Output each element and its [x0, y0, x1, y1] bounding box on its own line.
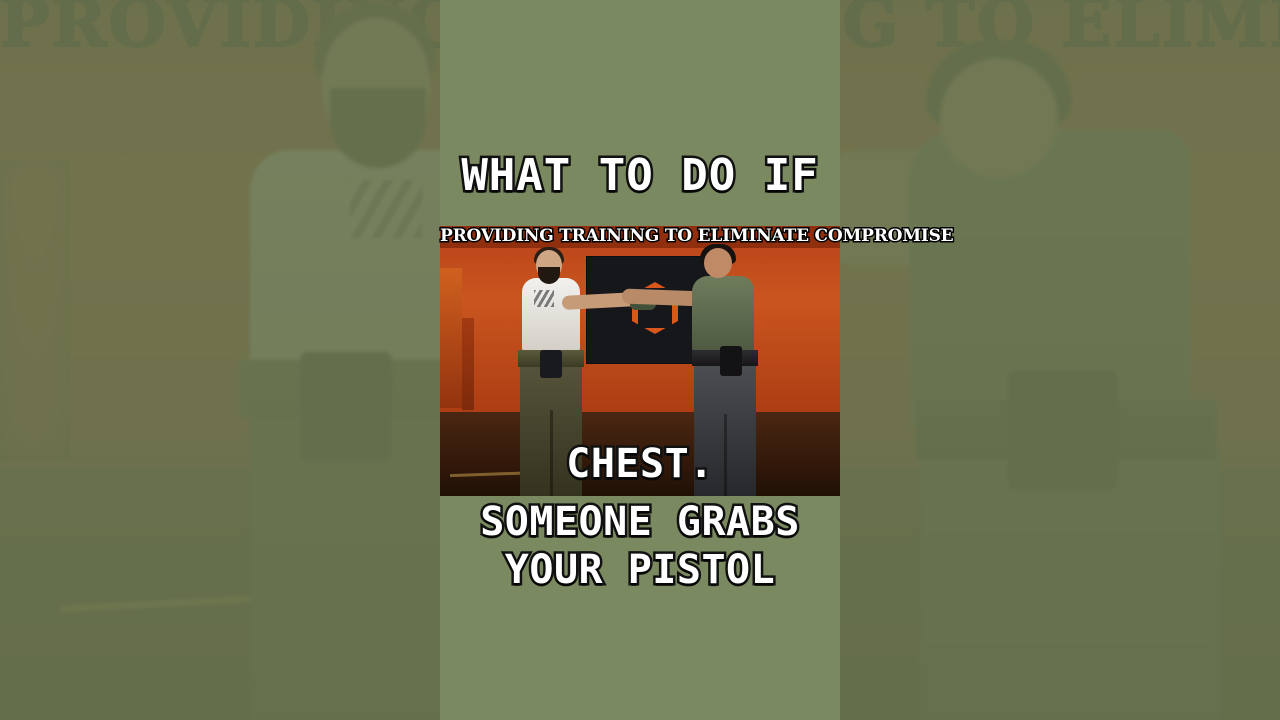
video-frame: PROVIDING TRAINING TO ELIMINATE COMPROMI… [0, 0, 1280, 720]
right-green-panel [840, 0, 1280, 720]
person-holster [720, 346, 742, 376]
caption-block: CHEST. SOMEONE GRABS YOUR PISTOL [440, 440, 840, 594]
person-holster [540, 350, 562, 378]
clip-banner-text: PROVIDING TRAINING TO ELIMINATE COMPROMI… [440, 226, 840, 246]
clip-wall-mat-secondary [462, 318, 474, 410]
hook-text: WHAT TO DO IF [440, 152, 840, 200]
center-video-column [440, 0, 840, 720]
left-green-panel [0, 0, 440, 720]
person-head [704, 248, 732, 278]
caption-line-2: SOMEONE GRABS [440, 498, 840, 546]
caption-line-1: CHEST. [440, 440, 840, 488]
shirt-logo [534, 290, 554, 307]
person-shirt [692, 276, 754, 352]
clip-wall-mat [440, 268, 462, 408]
caption-line-3: YOUR PISTOL [440, 546, 840, 594]
